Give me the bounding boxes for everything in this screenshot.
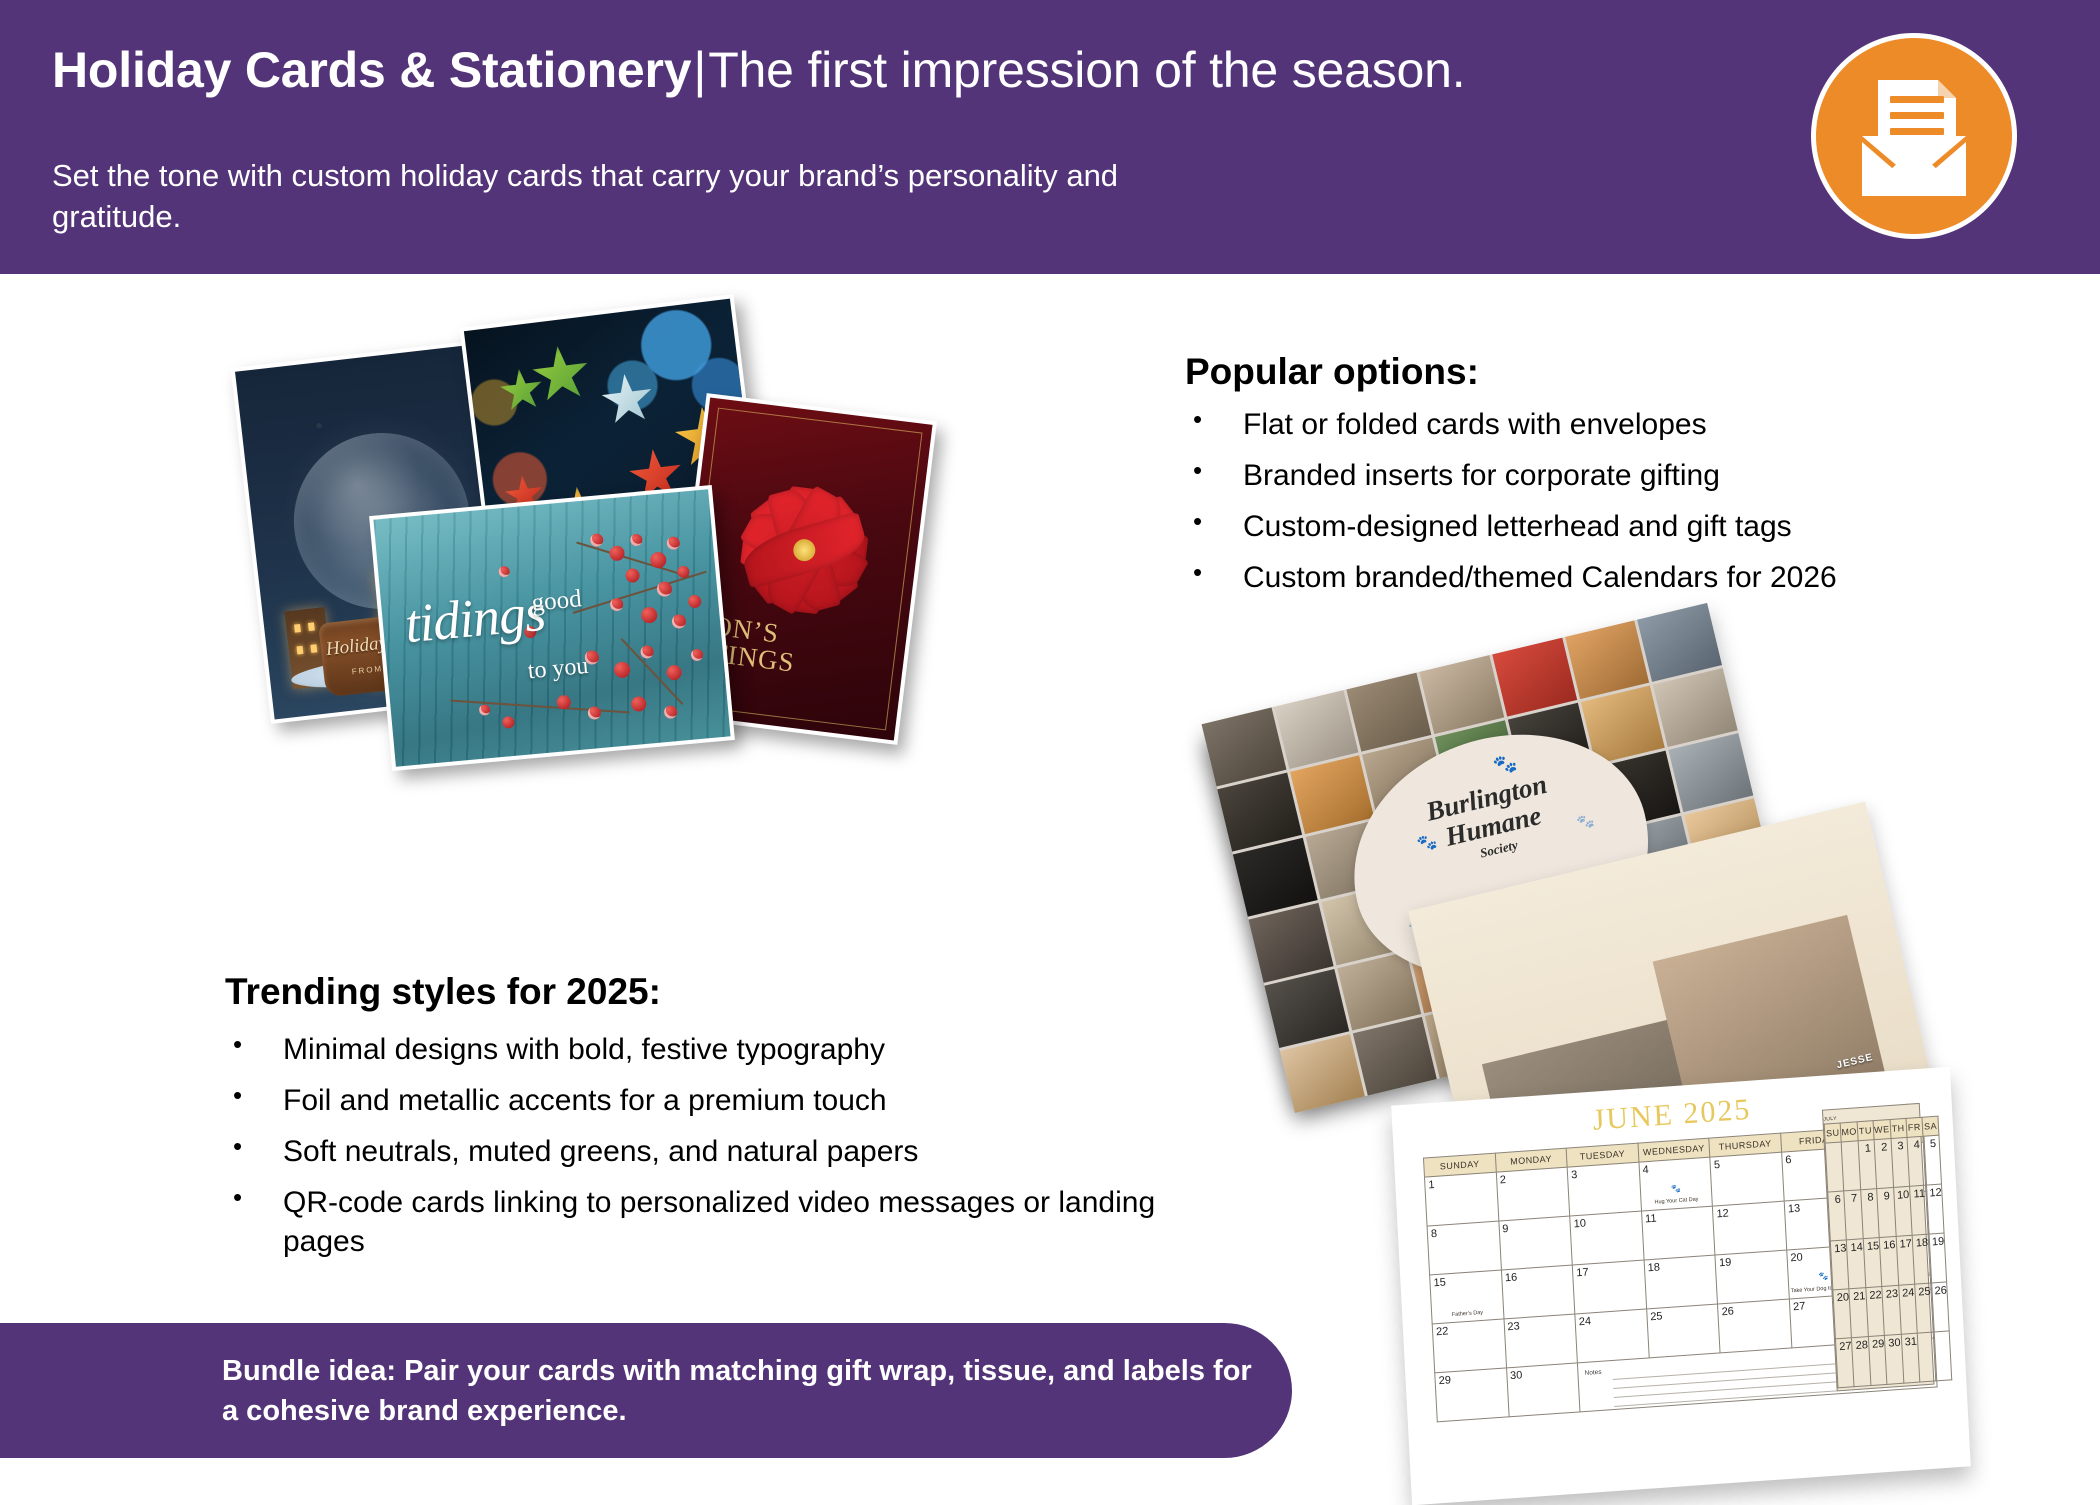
bundle-idea-lead: Bundle idea: [222,1355,396,1387]
calendar-day-cell[interactable]: 26 [1718,1299,1792,1353]
calendar-notes-label: Notes [1584,1369,1601,1377]
page-title-bold: Holiday Cards & Stationery [52,42,691,98]
trending-styles-list: Minimal designs with bold, festive typog… [225,1030,1185,1273]
tidings-script-text: tidings [402,581,547,655]
calendar-weeks-body: 1234🐾Hug Your Cat Day56789101112131415Fa… [1424,1142,1937,1422]
page-title-rest: The first impression of the season. [708,42,1465,98]
trending-style-item: Soft neutrals, muted greens, and natural… [225,1132,1185,1171]
calendar-product-photo: 🐾 🐾 🐾 🐾 🐾 Burlington Humane Society 2025… [1215,620,1995,1500]
trending-style-item: Minimal designs with bold, festive typog… [225,1030,1185,1069]
popular-option-item: Branded inserts for corporate gifting [1185,456,2065,495]
calendar-month-grid: SUNDAYMONDAYTUESDAYWEDNESDAYTHURSDAYFRID… [1423,1123,1938,1423]
calendar-event-label: Hug Your Cat Day [1641,1196,1712,1208]
calendar-day-cell[interactable]: 23 [1504,1314,1578,1368]
calendar-day-cell[interactable]: 24 [1575,1309,1649,1363]
card-good-tidings: tidings good to you [369,485,735,771]
calendar-day-cell[interactable]: 30 [1506,1363,1580,1417]
calendar-day-cell[interactable]: 8 [1427,1221,1501,1275]
paw-print-icon: 🐾 [1640,1182,1711,1196]
tidings-good-text: good [530,585,582,617]
calendar-day-cell[interactable]: 19 [1715,1250,1789,1304]
calendar-day-cell[interactable]: 4🐾Hug Your Cat Day [1639,1157,1713,1211]
calendar-day-cell[interactable]: 11 [1641,1206,1715,1260]
page-title: Holiday Cards & Stationery|The first imp… [52,42,1465,98]
calendar-day-cell[interactable]: 29 [1435,1368,1509,1422]
calendar-day-cell[interactable]: 18 [1644,1255,1718,1309]
popular-options-list: Flat or folded cards with envelopesBrand… [1185,405,2065,609]
popular-option-item: Custom branded/themed Calendars for 2026 [1185,558,2065,597]
tidings-toyou-text: to you [527,653,590,685]
trending-style-item: QR-code cards linking to personalized vi… [225,1183,1185,1261]
slide-root: Holiday Cards & Stationery|The first imp… [0,0,2100,1500]
bundle-idea-banner: Bundle idea: Pair your cards with matchi… [0,1323,1292,1458]
popular-option-item: Flat or folded cards with envelopes [1185,405,2065,444]
holiday-cards-collage: Holiday Greetings FROM ALL OF US [230,310,1090,870]
page-title-separator: | [691,42,708,98]
calendar-day-cell[interactable]: 16 [1501,1265,1575,1319]
calendar-day-cell[interactable]: 17 [1572,1260,1646,1314]
page-header: Holiday Cards & Stationery|The first imp… [0,0,2100,274]
calendar-day-cell[interactable]: 1 [1424,1172,1498,1226]
calendar-month-page: JUNE 2025 SUNDAYMONDAYTUESDAYWEDNESDAYTH… [1391,1067,1971,1505]
calendar-day-cell[interactable]: 25 [1646,1304,1720,1358]
trending-styles-heading: Trending styles for 2025: [225,971,661,1013]
bundle-idea-text: Bundle idea: Pair your cards with matchi… [222,1351,1252,1431]
calendar-day-cell[interactable]: 22 [1432,1319,1506,1373]
calendar-day-cell[interactable]: 2 [1496,1167,1570,1221]
calendar-day-cell[interactable]: 5 [1710,1152,1784,1206]
calendar-day-cell[interactable]: 10 [1570,1211,1644,1265]
calendar-day-cell[interactable]: 9 [1498,1216,1572,1270]
popular-options-heading: Popular options: [1185,351,1479,393]
page-subtitle: Set the tone with custom holiday cards t… [52,155,1232,237]
calendar-day-cell[interactable]: 12 [1713,1201,1787,1255]
popular-option-item: Custom-designed letterhead and gift tags [1185,507,2065,546]
trending-style-item: Foil and metallic accents for a premium … [225,1081,1185,1120]
envelope-document-icon [1816,38,2012,234]
calendar-mini-month: JULYSUMOTUWETHFRSA1234567891011121314151… [1822,1103,1935,1391]
calendar-day-cell[interactable]: 3 [1567,1162,1641,1216]
calendar-day-cell[interactable]: 15Father’s Day [1430,1270,1504,1324]
calendar-event-label: Father’s Day [1432,1309,1503,1321]
calendar-mini-month-title: JULY [1823,1116,1837,1123]
